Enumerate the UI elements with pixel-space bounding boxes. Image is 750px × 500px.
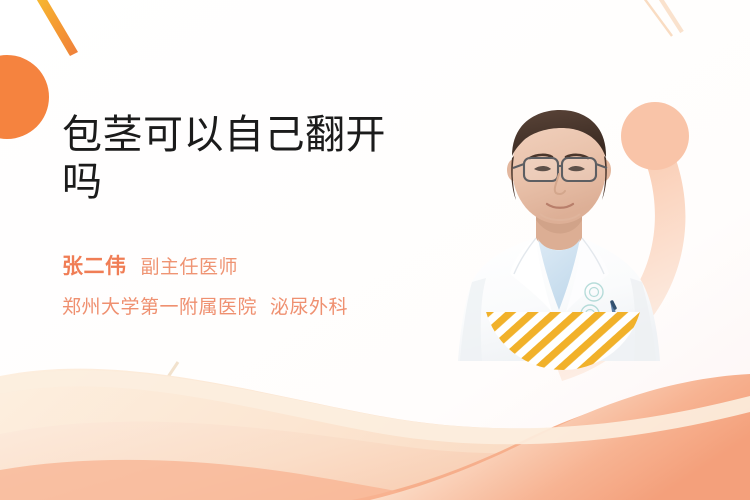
wave-inner-bottom xyxy=(0,420,750,500)
wave-cream-bottom xyxy=(0,369,750,500)
diagonal-stripe-top-left xyxy=(31,0,78,56)
health-article-cover-poster: 包茎可以自己翻开吗 张二伟 副主任医师 郑州大学第一附属医院 泌尿外科 xyxy=(0,0,750,500)
diagonal-stripes-top-right xyxy=(641,0,682,36)
page-title: 包茎可以自己翻开吗 xyxy=(62,112,422,206)
doctor-portrait xyxy=(452,96,667,361)
hospital-name: 郑州大学第一附属医院 xyxy=(62,292,257,319)
doctor-professional-title: 副主任医师 xyxy=(141,252,239,279)
wave-salmon-bottom-right xyxy=(352,382,750,500)
diagonal-line-top-left xyxy=(34,0,70,54)
doctor-byline: 张二伟 副主任医师 xyxy=(62,250,422,280)
diagonal-line-bottom-left xyxy=(158,362,178,392)
text-content-block: 包茎可以自己翻开吗 张二伟 副主任医师 郑州大学第一附属医院 泌尿外科 xyxy=(62,112,422,319)
wave-salmon-lower-left xyxy=(0,460,450,500)
department-name: 泌尿外科 xyxy=(270,292,348,319)
lab-coat xyxy=(458,238,660,361)
orange-circle-left xyxy=(0,55,49,139)
doctor-name: 张二伟 xyxy=(62,250,127,280)
doctor-affiliation: 郑州大学第一附属医院 泌尿外科 xyxy=(62,292,422,319)
head xyxy=(511,110,607,224)
